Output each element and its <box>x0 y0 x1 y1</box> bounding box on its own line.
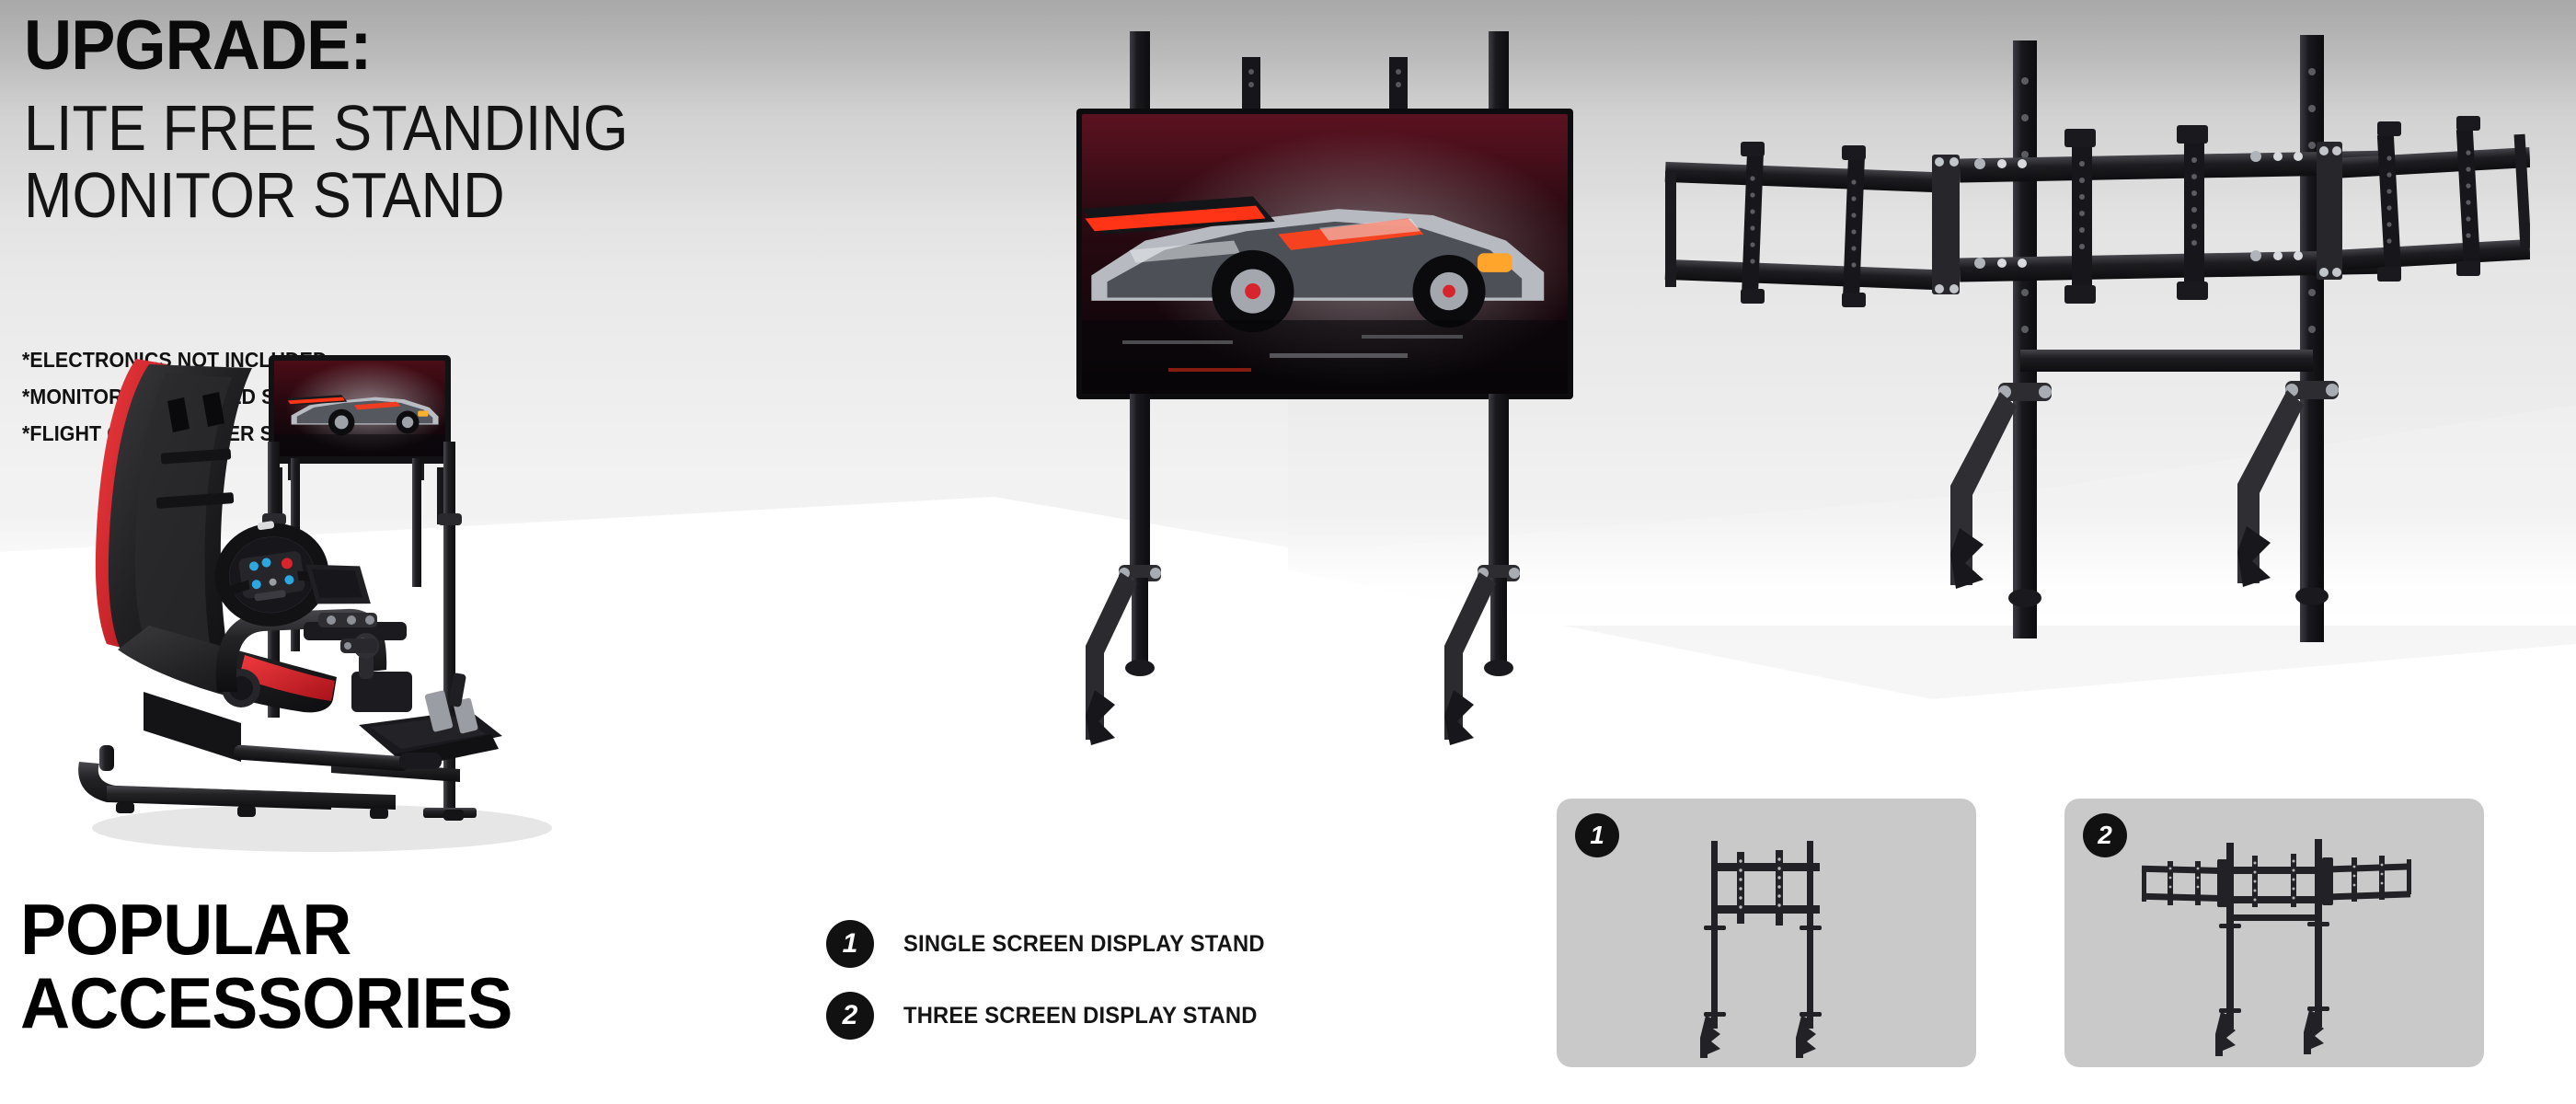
product-card-three-screen[interactable]: 2 <box>2064 799 2484 1067</box>
mounted-display <box>1076 109 1573 399</box>
page-subtitle-line-2: MONITOR STAND <box>24 162 902 229</box>
single-stand-thumbnail <box>1557 799 1976 1067</box>
legend-badge-1: 1 <box>826 920 874 968</box>
three-stand-thumbnail <box>2064 799 2484 1067</box>
page-subtitle: LITE FREE STANDING MONITOR STAND <box>24 95 902 229</box>
card-badge-2: 2 <box>2083 813 2127 857</box>
page-title: UPGRADE: <box>24 13 950 80</box>
left-screen-mount <box>1665 142 1961 307</box>
popular-line-1: POPULAR <box>20 892 727 966</box>
page-subtitle-line-1: LITE FREE STANDING <box>24 95 902 162</box>
legend-item-2[interactable]: 2 THREE SCREEN DISPLAY STAND <box>826 992 1283 1040</box>
height-clamp <box>1119 565 1520 581</box>
marketing-banner: UPGRADE: LITE FREE STANDING MONITOR STAN… <box>0 0 2576 1104</box>
racing-cockpit-product-image <box>28 350 690 892</box>
legend-label-1: SINGLE SCREEN DISPLAY STAND <box>903 931 1265 958</box>
headline-block: UPGRADE: LITE FREE STANDING MONITOR STAN… <box>24 13 999 229</box>
stand-foot <box>1950 390 2304 589</box>
legend-item-1[interactable]: 1 SINGLE SCREEN DISPLAY STAND <box>826 920 1283 968</box>
right-screen-mount <box>2317 116 2530 282</box>
legend-list: 1 SINGLE SCREEN DISPLAY STAND 2 THREE SC… <box>826 920 1283 1064</box>
legend-label-2: THREE SCREEN DISPLAY STAND <box>903 1003 1258 1029</box>
popular-accessories-heading: POPULAR ACCESSORIES <box>20 892 756 1041</box>
popular-line-2: ACCESSORIES <box>20 966 727 1040</box>
product-card-single-screen[interactable]: 1 <box>1557 799 1976 1067</box>
gear-shifter <box>340 633 412 712</box>
card-badge-1: 1 <box>1575 813 1619 857</box>
legend-badge-2: 2 <box>826 992 874 1040</box>
single-screen-display-stand-image <box>1058 17 1647 780</box>
three-screen-display-stand-image <box>1656 17 2530 780</box>
